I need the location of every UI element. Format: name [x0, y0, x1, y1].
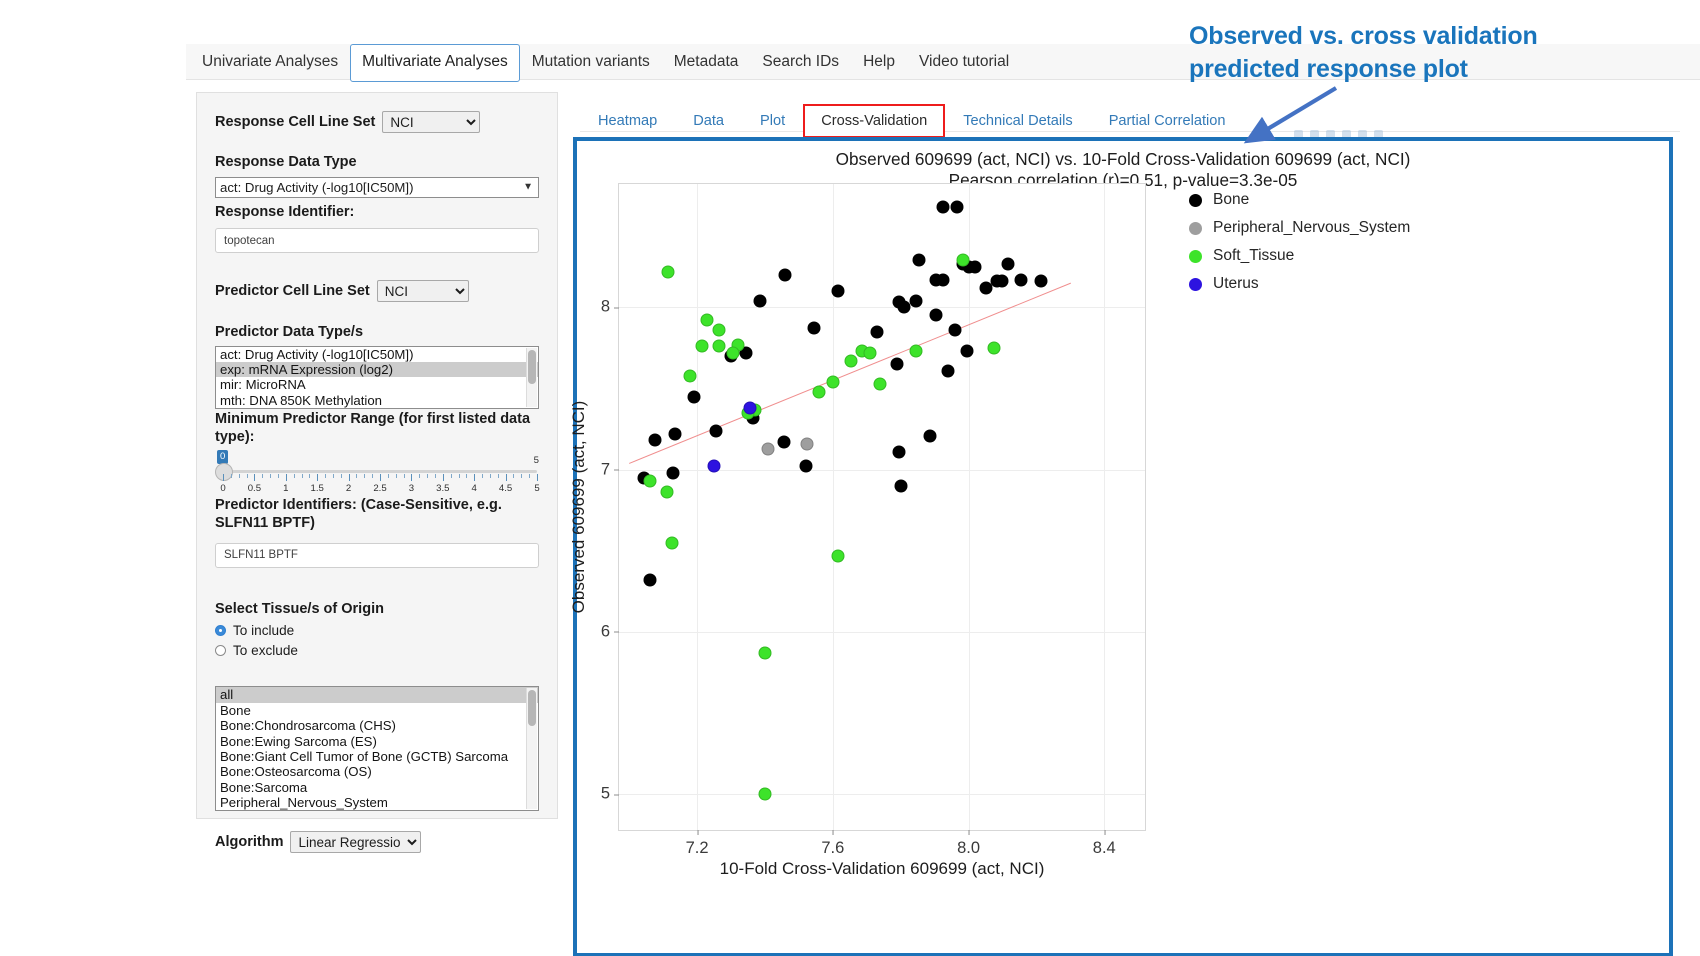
- annotation-callout-text: Observed vs. cross validation predicted …: [1189, 20, 1609, 86]
- plot-axes-area[interactable]: 56787.27.68.08.4: [618, 183, 1146, 831]
- nav-tab-help[interactable]: Help: [851, 44, 907, 82]
- scatter-point[interactable]: [684, 369, 697, 382]
- min-predictor-range-slider[interactable]: 0 5 0: [215, 450, 539, 494]
- scatter-point[interactable]: [950, 200, 963, 213]
- scatter-point[interactable]: [753, 294, 766, 307]
- scatter-point[interactable]: [665, 536, 678, 549]
- legend-item-uterus[interactable]: Uterus: [1189, 273, 1489, 296]
- list-item[interactable]: Bone:Giant Cell Tumor of Bone (GCTB) Sar…: [216, 749, 538, 764]
- scatter-point[interactable]: [660, 486, 673, 499]
- chevron-down-icon: ▼: [523, 182, 533, 193]
- scrollbar-thumb[interactable]: [528, 350, 536, 384]
- scatter-point[interactable]: [960, 345, 973, 358]
- scatter-point[interactable]: [870, 325, 883, 338]
- response-cell-line-set-select[interactable]: NCI: [382, 111, 480, 133]
- nav-tab-metadata[interactable]: Metadata: [662, 44, 751, 82]
- tissue-include-radio-row[interactable]: To include: [215, 623, 539, 638]
- app-root: Univariate Analyses Multivariate Analyse…: [0, 0, 1700, 956]
- cross-validation-plot-panel: Observed 609699 (act, NCI) vs. 10-Fold C…: [573, 137, 1673, 956]
- scatter-point[interactable]: [701, 314, 714, 327]
- annotation-arrow-icon: [1240, 84, 1350, 146]
- tab-technical-details[interactable]: Technical Details: [945, 104, 1091, 138]
- scatter-point[interactable]: [709, 424, 722, 437]
- slider-track[interactable]: [223, 470, 537, 473]
- scatter-point[interactable]: [937, 200, 950, 213]
- slider-tick-label: 2.5: [373, 483, 386, 494]
- x-axis-tick-label: 7.2: [686, 830, 709, 858]
- slider-tick-label: 3.5: [436, 483, 449, 494]
- scatter-point[interactable]: [831, 549, 844, 562]
- y-axis-label: Observed 609699 (act, NCI): [569, 183, 589, 831]
- list-item[interactable]: all: [216, 687, 538, 702]
- slider-value-bubble: 0: [217, 450, 228, 464]
- algorithm-label: Algorithm: [215, 833, 283, 852]
- nav-tab-multivariate-analyses[interactable]: Multivariate Analyses: [350, 44, 520, 82]
- scatter-point[interactable]: [696, 340, 709, 353]
- response-data-type-label: Response Data Type: [215, 153, 539, 172]
- scatter-point[interactable]: [726, 346, 739, 359]
- slider-tick-label: 3: [409, 483, 414, 494]
- x-axis-tick-label: 8.0: [957, 830, 980, 858]
- tab-heatmap[interactable]: Heatmap: [580, 104, 675, 138]
- slider-tick-label: 0.5: [248, 483, 261, 494]
- gridline-vertical: [1104, 184, 1105, 830]
- scatter-point[interactable]: [643, 475, 656, 488]
- slider-tick-labels: 0 0.5 1 1.5 2 2.5 3 3.5 4 4.5 5: [223, 483, 537, 495]
- tab-plot[interactable]: Plot: [742, 104, 803, 138]
- scatter-point[interactable]: [808, 322, 821, 335]
- slider-ticks: [223, 474, 537, 482]
- predictor-cell-line-set-row: Predictor Cell Line Set NCI: [215, 280, 539, 302]
- predictor-cell-line-set-label: Predictor Cell Line Set: [215, 282, 370, 301]
- legend-label: Peripheral_Nervous_System: [1213, 219, 1410, 237]
- gridline-vertical: [969, 184, 970, 830]
- scatter-point[interactable]: [826, 376, 839, 389]
- scatter-point[interactable]: [668, 427, 681, 440]
- legend-dot-icon: [1189, 194, 1202, 207]
- response-cell-line-set-label: Response Cell Line Set: [215, 113, 375, 132]
- scatter-point[interactable]: [909, 345, 922, 358]
- scatter-point[interactable]: [894, 479, 907, 492]
- scatter-point[interactable]: [913, 254, 926, 267]
- response-data-type-value: act: Drug Activity (-log10[IC50M]): [220, 180, 413, 195]
- slider-max-label: 5: [534, 455, 539, 466]
- gridline-vertical: [833, 184, 834, 830]
- scatter-point[interactable]: [987, 341, 1000, 354]
- algorithm-select[interactable]: Linear Regression: [290, 831, 421, 853]
- scatter-point[interactable]: [667, 466, 680, 479]
- nav-tab-video-tutorial[interactable]: Video tutorial: [907, 44, 1021, 82]
- listbox-scrollbar[interactable]: [526, 348, 537, 407]
- slider-tick-label: 5: [534, 483, 539, 494]
- slider-tick-label: 0: [220, 483, 225, 494]
- y-axis-tick-label: 6: [601, 622, 619, 641]
- legend-label: Bone: [1213, 191, 1249, 209]
- predictor-identifiers-label: Predictor Identifiers: (Case-Sensitive, …: [215, 496, 539, 533]
- scatter-point[interactable]: [948, 324, 961, 337]
- legend-dot-icon: [1189, 222, 1202, 235]
- min-predictor-range-label: Minimum Predictor Range (for first liste…: [215, 410, 539, 447]
- scatter-point[interactable]: [762, 442, 775, 455]
- scatter-point[interactable]: [891, 358, 904, 371]
- scatter-point[interactable]: [813, 385, 826, 398]
- subtabs-bar: Heatmap Data Plot Cross-Validation Techn…: [580, 104, 1244, 138]
- x-axis-tick-label: 7.6: [821, 830, 844, 858]
- scatter-point[interactable]: [648, 434, 661, 447]
- scatter-point[interactable]: [1001, 257, 1014, 270]
- tab-partial-correlation[interactable]: Partial Correlation: [1091, 104, 1244, 138]
- tab-data[interactable]: Data: [675, 104, 742, 138]
- nav-tab-search-ids[interactable]: Search IDs: [750, 44, 851, 82]
- predictor-data-types-listbox[interactable]: act: Drug Activity (-log10[IC50M]) exp: …: [215, 346, 539, 409]
- scatter-point[interactable]: [743, 401, 756, 414]
- nav-tab-mutation-variants[interactable]: Mutation variants: [520, 44, 662, 82]
- legend-label: Soft_Tissue: [1213, 247, 1294, 265]
- slider-tick-label: 1.5: [311, 483, 324, 494]
- plot-title-line1: Observed 609699 (act, NCI) vs. 10-Fold C…: [836, 149, 1411, 169]
- predictor-identifiers-input[interactable]: [215, 543, 539, 568]
- list-item[interactable]: mth: DNA 850K Methylation: [216, 393, 538, 408]
- response-identifier-input[interactable]: [215, 228, 539, 253]
- scatter-point[interactable]: [799, 460, 812, 473]
- scatter-point[interactable]: [898, 301, 911, 314]
- response-data-type-select[interactable]: act: Drug Activity (-log10[IC50M]) ▼: [215, 177, 539, 198]
- legend-dot-icon: [1189, 278, 1202, 291]
- scatter-point[interactable]: [892, 445, 905, 458]
- x-axis-label: 10-Fold Cross-Validation 609699 (act, NC…: [618, 859, 1146, 879]
- list-item[interactable]: Bone:Sarcoma: [216, 780, 538, 795]
- slider-tick-label: 4: [472, 483, 477, 494]
- scatter-point[interactable]: [996, 275, 1009, 288]
- list-item[interactable]: act: Drug Activity (-log10[IC50M]): [216, 347, 538, 362]
- scatter-point[interactable]: [708, 460, 721, 473]
- slider-tick-label: 2: [346, 483, 351, 494]
- scatter-point[interactable]: [831, 285, 844, 298]
- slider-tick-label: 1: [283, 483, 288, 494]
- y-axis-tick-label: 5: [601, 785, 619, 804]
- list-item[interactable]: Bone: [216, 703, 538, 718]
- response-cell-line-set-row: Response Cell Line Set NCI: [215, 111, 539, 133]
- tab-cross-validation[interactable]: Cross-Validation: [803, 104, 945, 138]
- scatter-point[interactable]: [801, 437, 814, 450]
- scatter-point[interactable]: [957, 254, 970, 267]
- list-item[interactable]: Peripheral_Nervous_System: [216, 795, 538, 810]
- predictor-cell-line-set-select[interactable]: NCI: [377, 280, 469, 302]
- response-identifier-label: Response Identifier:: [215, 203, 539, 222]
- scatter-point[interactable]: [687, 390, 700, 403]
- scatter-point[interactable]: [942, 364, 955, 377]
- plot-legend: Bone Peripheral_Nervous_System Soft_Tiss…: [1189, 189, 1489, 301]
- scatter-point[interactable]: [874, 377, 887, 390]
- scatter-point[interactable]: [713, 324, 726, 337]
- y-axis-tick-label: 8: [601, 298, 619, 317]
- list-item[interactable]: Bone:Chondrosarcoma (CHS): [216, 718, 538, 733]
- list-item[interactable]: exp: mRNA Expression (log2): [216, 362, 538, 377]
- list-item[interactable]: Bone:Ewing Sarcoma (ES): [216, 734, 538, 749]
- legend-item-bone[interactable]: Bone: [1189, 189, 1489, 212]
- scatter-point[interactable]: [909, 294, 922, 307]
- legend-label: Uterus: [1213, 275, 1259, 293]
- gridline-vertical: [697, 184, 698, 830]
- scatter-point[interactable]: [758, 788, 771, 801]
- listbox-scrollbar[interactable]: [526, 688, 537, 809]
- scatter-point[interactable]: [864, 346, 877, 359]
- scatter-point[interactable]: [979, 281, 992, 294]
- scatter-point[interactable]: [1015, 273, 1028, 286]
- slider-tick-label: 4.5: [499, 483, 512, 494]
- list-item[interactable]: Bone:Osteosarcoma (OS): [216, 764, 538, 779]
- scatter-point[interactable]: [713, 340, 726, 353]
- y-axis-tick-label: 7: [601, 460, 619, 479]
- scatter-point[interactable]: [662, 265, 675, 278]
- tissue-exclude-radio-row[interactable]: To exclude: [215, 643, 539, 658]
- algorithm-row: Algorithm Linear Regression: [215, 831, 539, 853]
- nav-tab-univariate-analyses[interactable]: Univariate Analyses: [190, 44, 350, 82]
- legend-item-peripheral-nervous-system[interactable]: Peripheral_Nervous_System: [1189, 217, 1489, 240]
- scatter-point[interactable]: [643, 574, 656, 587]
- scatter-point[interactable]: [845, 354, 858, 367]
- list-item[interactable]: mir: MicroRNA: [216, 377, 538, 392]
- radio-include-label: To include: [233, 623, 294, 638]
- x-axis-tick-label: 8.4: [1093, 830, 1116, 858]
- legend-item-soft-tissue[interactable]: Soft_Tissue: [1189, 245, 1489, 268]
- radio-exclude-label: To exclude: [233, 643, 298, 658]
- radio-exclude-icon[interactable]: [215, 645, 226, 656]
- scatter-point[interactable]: [777, 436, 790, 449]
- top-navbar: Univariate Analyses Multivariate Analyse…: [190, 44, 1021, 82]
- scrollbar-thumb[interactable]: [528, 690, 536, 726]
- legend-dot-icon: [1189, 250, 1202, 263]
- scatter-point[interactable]: [923, 429, 936, 442]
- tissue-options-listbox[interactable]: all Bone Bone:Chondrosarcoma (CHS) Bone:…: [215, 686, 539, 811]
- scatter-point[interactable]: [937, 273, 950, 286]
- scatter-point[interactable]: [779, 268, 792, 281]
- radio-include-icon[interactable]: [215, 625, 226, 636]
- controls-panel: Response Cell Line Set NCI Response Data…: [196, 92, 558, 819]
- select-tissue-label: Select Tissue/s of Origin: [215, 600, 539, 619]
- scatter-point[interactable]: [930, 309, 943, 322]
- predictor-data-types-label: Predictor Data Type/s: [215, 323, 539, 342]
- scatter-point[interactable]: [969, 260, 982, 273]
- scatter-point[interactable]: [758, 647, 771, 660]
- scatter-point[interactable]: [1035, 275, 1048, 288]
